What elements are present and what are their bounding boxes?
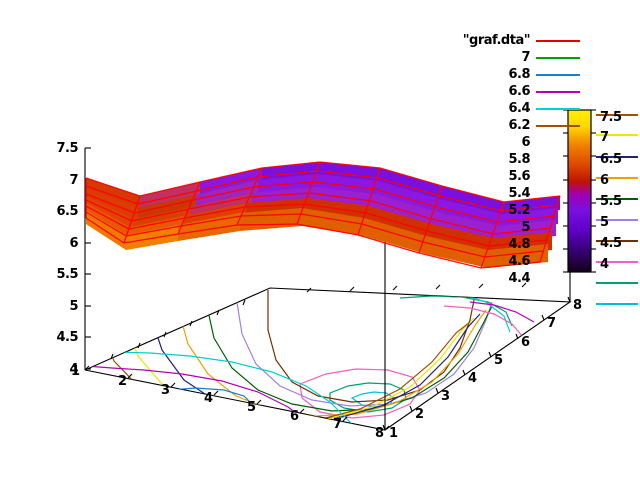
y-tick-1: 2: [415, 408, 424, 421]
key2-label-1: 7: [600, 131, 609, 144]
y-tick-7: 8: [573, 299, 582, 312]
x-tick-4: 5: [247, 401, 256, 414]
x-tick-5: 6: [290, 410, 299, 423]
z-tick-1: 7: [20, 174, 78, 187]
back-edge-ticks: [111, 283, 526, 359]
key2-label-0: 7.5: [600, 111, 622, 124]
key-sample-3: [536, 91, 580, 93]
key2-label-3: 6: [600, 174, 609, 187]
z-tick-6: 4.5: [20, 331, 78, 344]
z-tick-3: 6: [20, 237, 78, 250]
key2-label-4: 5.5: [600, 195, 622, 208]
key2-sample-9: [596, 303, 638, 305]
z-tick-5: 5: [20, 300, 78, 313]
plot-canvas: [0, 0, 640, 480]
gnuplot-surface-plot: "graf.dta" 7 6.8 6.6 6.4 6.2 6 5.8 5.6 5…: [0, 0, 640, 480]
key-label-3: 6.6: [420, 85, 530, 98]
key-label-8: 5.6: [420, 170, 530, 183]
key-label-14: 4.4: [420, 272, 530, 285]
y-tick-0: 1: [389, 427, 398, 440]
key-label-1: 7: [420, 51, 530, 64]
key-label-6: 6: [420, 136, 530, 149]
key2-label-6: 4.5: [600, 237, 622, 250]
key2-label-2: 6.5: [600, 153, 622, 166]
key-label-7: 5.8: [420, 153, 530, 166]
x-tick-3: 4: [204, 392, 213, 405]
key-sample-title: [536, 40, 580, 42]
key-label-5: 6.2: [420, 119, 530, 132]
key-label-10: 5.2: [420, 204, 530, 217]
key-label-2: 6.8: [420, 68, 530, 81]
key-sample-2: [536, 74, 580, 76]
key-label-13: 4.6: [420, 255, 530, 268]
key-label-9: 5.4: [420, 187, 530, 200]
key-label-11: 5: [420, 221, 530, 234]
y-tick-6: 7: [547, 317, 556, 330]
key-label-12: 4.8: [420, 238, 530, 251]
x-tick-7: 8: [375, 427, 384, 440]
y-tick-5: 6: [521, 336, 530, 349]
x-tick-2: 3: [161, 384, 170, 397]
key2-label-7: 4: [600, 258, 609, 271]
key-sample-5: [536, 125, 580, 127]
key-label-title: "graf.dta": [420, 34, 530, 47]
key-label-4: 6.4: [420, 102, 530, 115]
contour-lines: [86, 290, 534, 432]
key-sample-4: [536, 108, 580, 110]
z-tick-7: 4: [20, 363, 78, 376]
z-tick-4: 5.5: [20, 268, 78, 281]
x-tick-0: 1: [71, 365, 80, 378]
key2-label-5: 5: [600, 216, 609, 229]
x-tick-6: 7: [333, 418, 342, 431]
x-tick-1: 2: [118, 375, 127, 388]
key-sample-1: [536, 57, 580, 59]
y-tick-2: 3: [441, 390, 450, 403]
colorbar: [563, 110, 596, 272]
key2-sample-8: [596, 282, 638, 284]
y-tick-3: 4: [468, 372, 477, 385]
x-axis-ticks: [85, 366, 389, 430]
y-tick-4: 5: [494, 354, 503, 367]
z-tick-0: 7.5: [20, 142, 78, 155]
z-tick-2: 6.5: [20, 205, 78, 218]
